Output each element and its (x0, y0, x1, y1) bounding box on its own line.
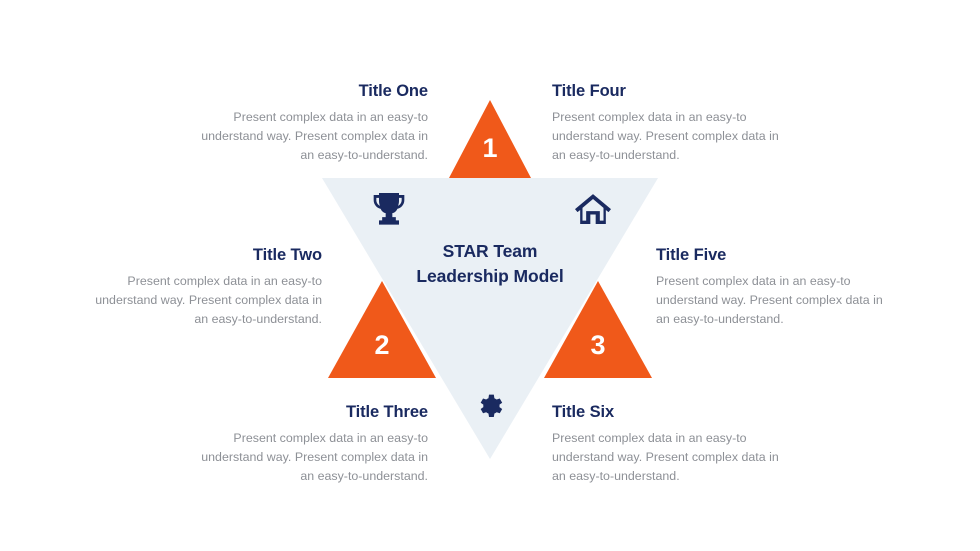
text-block-one: Title One Present complex data in an eas… (196, 82, 428, 165)
block-title-six: Title Six (552, 403, 784, 422)
block-body-two: Present complex data in an easy-to under… (90, 272, 322, 329)
block-body-six: Present complex data in an easy-to under… (552, 429, 784, 486)
trophy-icon (369, 188, 409, 233)
infographic-slide: 1 2 3 STAR Team Leadership Model Title O… (0, 0, 980, 551)
block-title-five: Title Five (656, 246, 888, 265)
block-body-four: Present complex data in an easy-to under… (552, 108, 784, 165)
triangle-number-1: 1 (470, 135, 510, 162)
block-body-three: Present complex data in an easy-to under… (196, 429, 428, 486)
block-body-one: Present complex data in an easy-to under… (196, 108, 428, 165)
text-block-six: Title Six Present complex data in an eas… (552, 403, 784, 486)
text-block-five: Title Five Present complex data in an ea… (656, 246, 888, 329)
block-title-four: Title Four (552, 82, 784, 101)
triangle-number-2: 2 (362, 332, 402, 359)
center-title: STAR Team Leadership Model (400, 239, 580, 289)
block-title-two: Title Two (90, 246, 322, 265)
text-block-two: Title Two Present complex data in an eas… (90, 246, 322, 329)
triangle-number-3: 3 (578, 332, 618, 359)
text-block-three: Title Three Present complex data in an e… (196, 403, 428, 486)
home-icon (573, 189, 613, 234)
text-block-four: Title Four Present complex data in an ea… (552, 82, 784, 165)
block-title-three: Title Three (196, 403, 428, 422)
block-body-five: Present complex data in an easy-to under… (656, 272, 888, 329)
block-title-one: Title One (196, 82, 428, 101)
gear-icon (473, 389, 507, 428)
